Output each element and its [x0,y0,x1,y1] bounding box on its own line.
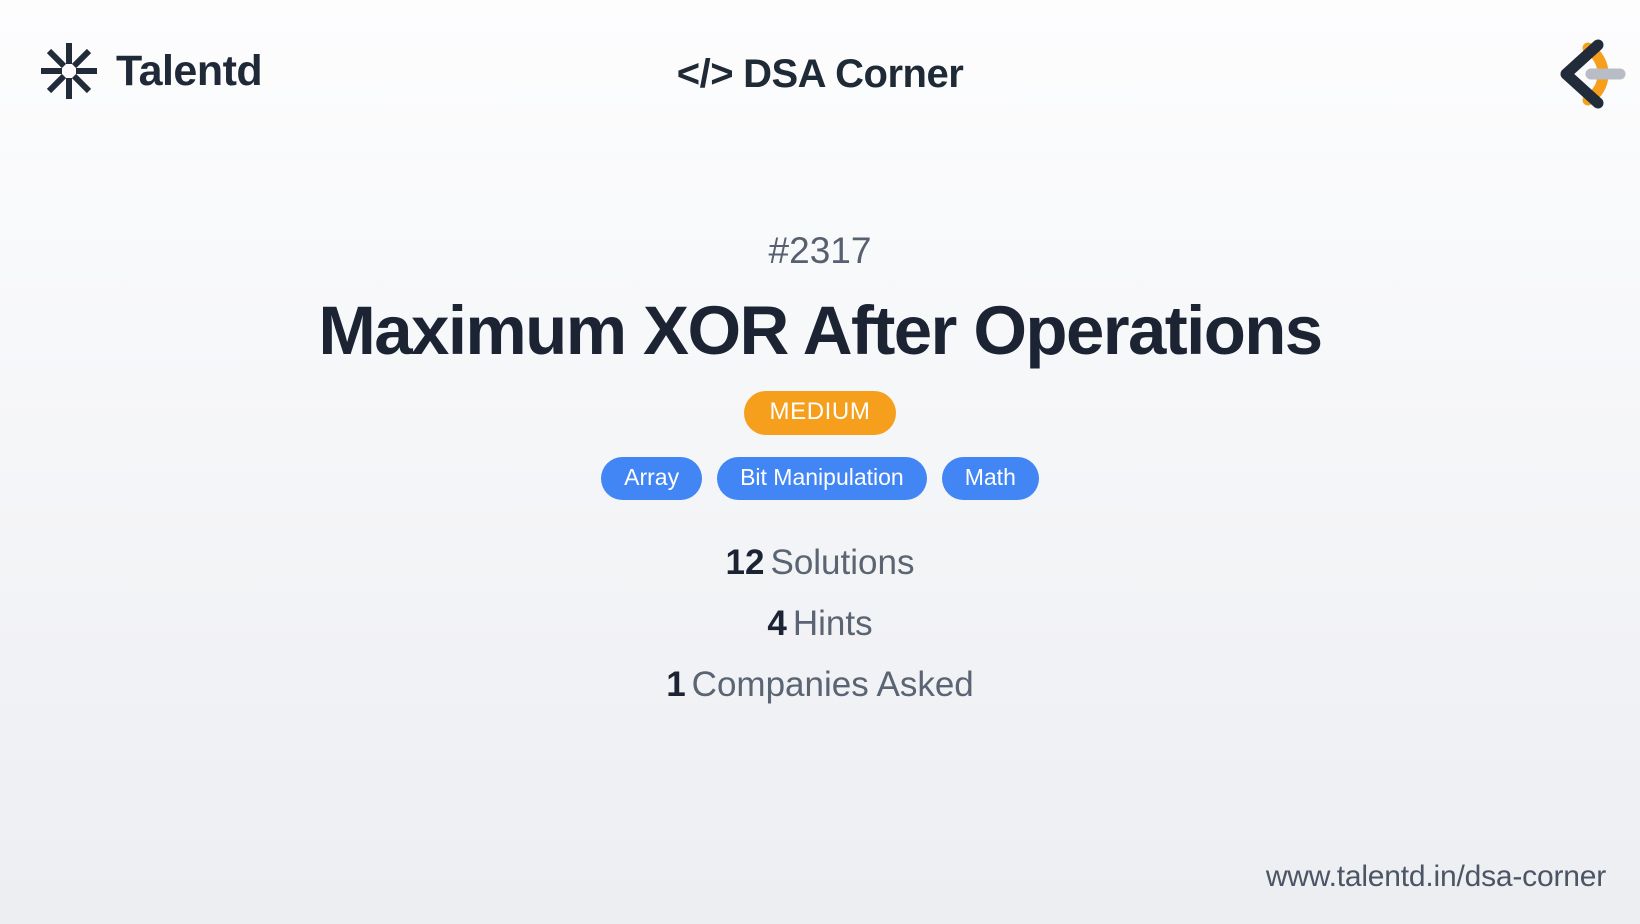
stat-label: Solutions [770,543,914,582]
page-title-text: DSA Corner [743,52,963,96]
topic-tag[interactable]: Math [942,457,1039,500]
page-title: </>DSA Corner [0,52,1640,97]
topic-tag-list: Array Bit Manipulation Math [601,457,1039,500]
talentd-chevron-arc-icon [1536,26,1632,122]
code-glyph-icon: </> [677,52,733,96]
problem-number: #2317 [769,232,872,269]
main-content: #2317 Maximum XOR After Operations MEDIU… [0,150,1640,810]
stat-value: 12 [726,543,765,582]
header: Talentd </>DSA Corner [0,0,1640,150]
topic-tag[interactable]: Bit Manipulation [717,457,927,500]
stat-row-companies: 1Companies Asked [666,664,974,706]
difficulty-badge: MEDIUM [744,391,897,435]
stat-label: Companies Asked [692,665,974,704]
stat-row-solutions: 12Solutions [726,542,915,584]
problem-title: Maximum XOR After Operations [318,295,1321,367]
stat-value: 1 [666,665,685,704]
topic-tag[interactable]: Array [601,457,702,500]
footer-url[interactable]: www.talentd.in/dsa-corner [1266,862,1606,892]
stat-label: Hints [793,604,873,643]
stat-row-hints: 4Hints [767,603,872,645]
poster-canvas: Talentd </>DSA Corner #2317 Maximum XOR … [0,0,1640,924]
stats-list: 12Solutions 4Hints 1Companies Asked [666,542,974,706]
stat-value: 4 [767,604,786,643]
